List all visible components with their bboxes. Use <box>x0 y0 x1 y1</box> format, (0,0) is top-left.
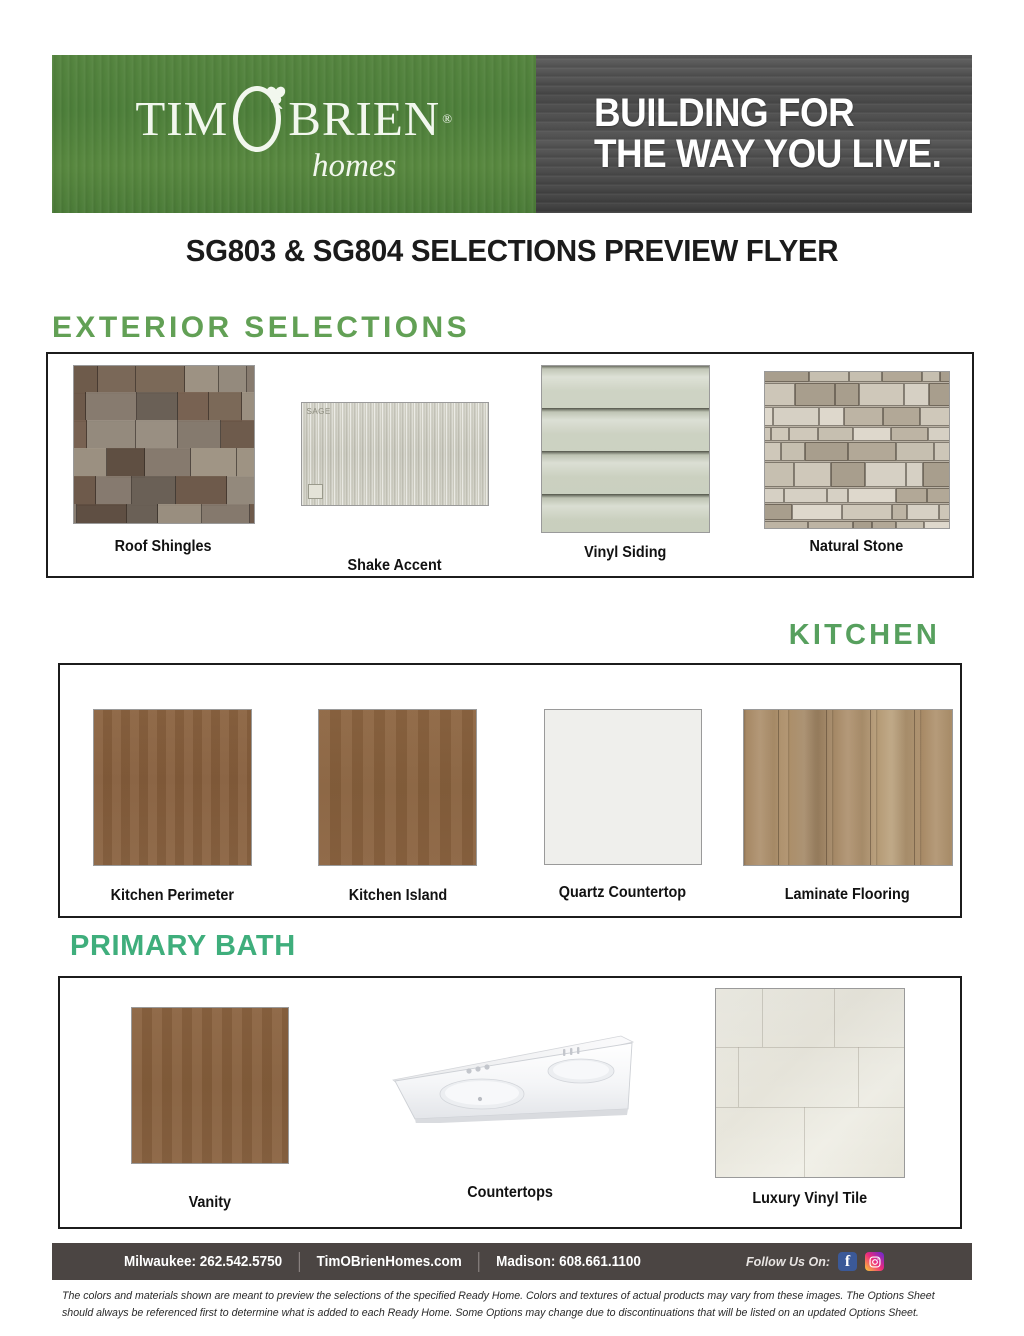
footer-milwaukee-phone: Milwaukee: 262.542.5750 <box>124 1254 282 1270</box>
logo-panel: TIM BRIEN ® <box>52 55 536 213</box>
vanity-swatch <box>131 1007 289 1164</box>
swatch-cell-quartz-countertop: Quartz Countertop <box>510 665 735 960</box>
swatch-label: Quartz Countertop <box>559 884 686 902</box>
registered-trademark-icon: ® <box>442 112 453 125</box>
swatch-cell-roof-shingles: Roof Shingles <box>48 354 279 587</box>
swatch-cell-laminate-flooring: Laminate Flooring <box>735 665 960 960</box>
shake-sample-tag: SAGE <box>307 407 331 416</box>
tagline-panel: BUILDING FOR THE WAY YOU LIVE. <box>536 55 972 213</box>
swatch-cell-vanity: Vanity <box>60 978 360 1256</box>
swatch-label: Natural Stone <box>810 538 904 556</box>
swatch-cell-luxury-vinyl-tile: Luxury Vinyl Tile <box>660 978 960 1237</box>
shamrock-icon <box>263 84 289 110</box>
kitchen-island-swatch <box>318 709 477 866</box>
footer-divider <box>299 1252 300 1272</box>
panel-exterior-selections: Roof Shingles SAGE Shake Accent Vinyl Si… <box>46 352 974 578</box>
footer-divider <box>478 1252 479 1272</box>
logo-text-brien: BRIEN <box>288 94 440 143</box>
disclaimer-text: The colors and materials shown are meant… <box>62 1288 968 1321</box>
swatch-label: Laminate Flooring <box>785 886 910 904</box>
footer-bar: Milwaukee: 262.542.5750 TimOBrienHomes.c… <box>52 1243 972 1280</box>
kitchen-perimeter-swatch <box>93 709 252 866</box>
swatch-cell-vinyl-siding: Vinyl Siding <box>510 354 741 587</box>
swatch-label: Countertops <box>467 1184 553 1202</box>
natural-stone-swatch <box>764 371 950 529</box>
instagram-icon[interactable] <box>865 1252 884 1271</box>
laminate-flooring-swatch <box>743 709 953 866</box>
logo-o-letter <box>231 82 287 156</box>
swatch-cell-kitchen-island: Kitchen Island <box>285 665 510 960</box>
follow-us-label: Follow Us On: <box>746 1255 830 1269</box>
company-logo: TIM BRIEN ® <box>135 82 453 183</box>
flyer-page: TIM BRIEN ® <box>0 0 1024 1336</box>
swatch-cell-shake-accent: SAGE Shake Accent <box>279 354 510 587</box>
follow-us-group: Follow Us On: f <box>746 1252 884 1271</box>
swatch-label: Kitchen Perimeter <box>111 887 234 905</box>
swatch-label: Shake Accent <box>347 557 441 575</box>
quartz-countertop-swatch <box>544 709 702 865</box>
swatch-label: Vinyl Siding <box>584 544 666 562</box>
logo-text-tim: TIM <box>135 94 228 143</box>
tagline: BUILDING FOR THE WAY YOU LIVE. <box>594 93 941 175</box>
luxury-vinyl-tile-swatch <box>715 988 905 1178</box>
swatch-label: Vanity <box>189 1194 231 1212</box>
footer-madison-phone: Madison: 608.661.1100 <box>496 1254 641 1270</box>
swatch-label: Kitchen Island <box>348 887 447 905</box>
shake-sample-chip <box>308 484 323 499</box>
panel-primary-bath-selections: Vanity <box>58 976 962 1229</box>
countertops-swatch <box>385 1031 635 1123</box>
vanity-top-illustration <box>385 1031 635 1123</box>
swatch-cell-countertops: Countertops <box>360 978 660 1280</box>
shake-accent-swatch: SAGE <box>301 402 489 506</box>
facebook-icon[interactable]: f <box>838 1252 857 1271</box>
tagline-line-2: THE WAY YOU LIVE. <box>594 134 941 175</box>
swatch-label: Roof Shingles <box>115 538 212 556</box>
section-heading-exterior: EXTERIOR SELECTIONS <box>52 311 470 345</box>
footer-website-link[interactable]: TimOBrienHomes.com <box>317 1254 462 1270</box>
page-title: SG803 & SG804 SELECTIONS PREVIEW FLYER <box>26 233 999 269</box>
vinyl-siding-swatch <box>541 365 710 533</box>
swatch-cell-natural-stone: Natural Stone <box>741 354 972 593</box>
swatch-cell-kitchen-perimeter: Kitchen Perimeter <box>60 665 285 960</box>
section-heading-primary-bath: PRIMARY BATH <box>70 930 296 963</box>
footer-contact-group: Milwaukee: 262.542.5750 TimOBrienHomes.c… <box>124 1252 641 1272</box>
instagram-glyph <box>868 1255 882 1269</box>
tagline-line-1: BUILDING FOR <box>594 93 941 134</box>
panel-kitchen-selections: Kitchen Perimeter Kitchen Island Quartz … <box>58 663 962 918</box>
section-heading-kitchen: KITCHEN <box>789 619 940 652</box>
swatch-label: Luxury Vinyl Tile <box>753 1190 868 1208</box>
header-banner: TIM BRIEN ® <box>52 55 972 213</box>
roof-shingles-swatch <box>73 365 255 524</box>
